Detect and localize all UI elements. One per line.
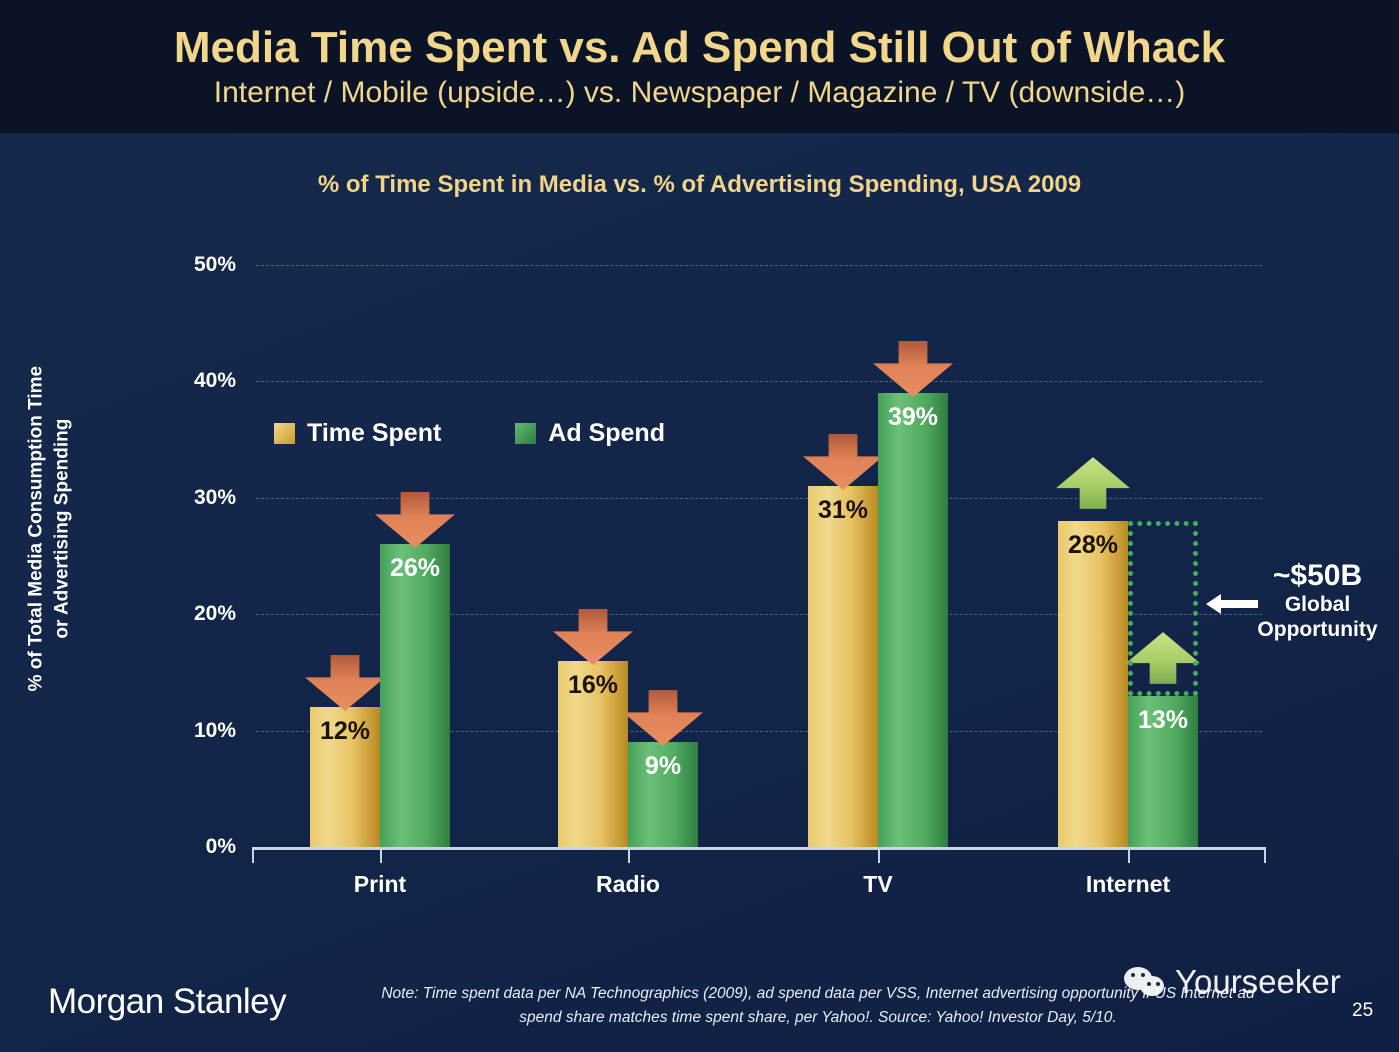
bar-value-label: 31% [808,496,878,525]
down-arrow-icon [305,655,385,711]
bar-value-label: 13% [1128,706,1198,735]
y-axis-tick-label: 0% [146,835,236,859]
x-axis-label-tv: TV [758,871,998,898]
gridline [256,265,1262,266]
brand-first: Morgan [48,982,164,1021]
y-axis-title-line2: or Advertising Spending [51,419,72,639]
y-axis-tick-label: 10% [146,719,236,743]
y-axis-title-line1: % of Total Media Consumption Time [25,366,46,691]
bar-radio-time-spent[interactable]: 16% [558,661,628,847]
x-axis-tick [252,847,254,863]
y-axis-title: % of Total Media Consumption Time or Adv… [23,294,74,764]
x-axis-tick [878,847,880,863]
up-arrow-icon [1056,457,1130,509]
bar-value-label: 16% [558,671,628,700]
down-arrow-icon [803,434,883,490]
bar-internet-time-spent[interactable]: 28% [1058,521,1128,847]
opportunity-line1: Global [1236,593,1399,618]
wechat-icon [1124,965,1168,999]
opportunity-amount: ~$50B [1236,558,1399,593]
y-axis-tick-label: 50% [146,253,236,277]
opportunity-line2: Opportunity [1236,618,1399,643]
opportunity-pointer-arrow [1206,591,1258,622]
brand-second: Stanley [173,982,286,1021]
bar-value-label: 12% [310,717,380,746]
x-axis-line [252,847,1264,850]
page-number: 25 [1352,1000,1373,1022]
bar-value-label: 39% [878,403,948,432]
watermark: Yourseeker [1124,963,1341,1001]
gridline [256,381,1262,382]
down-arrow-icon [375,492,455,548]
bar-tv-ad-spend[interactable]: 39% [878,393,948,847]
opportunity-annotation: ~$50B Global Opportunity [1236,558,1399,643]
slide-header: Media Time Spent vs. Ad Spend Still Out … [0,0,1399,133]
down-arrow-icon [873,341,953,397]
x-axis-tick [1264,847,1266,863]
watermark-text: Yourseeker [1175,963,1341,1001]
bar-tv-time-spent[interactable]: 31% [808,486,878,847]
chart-title: % of Time Spent in Media vs. % of Advert… [0,171,1399,199]
x-axis-tick [380,847,382,863]
bar-print-time-spent[interactable]: 12% [310,707,380,847]
bar-value-label: 9% [628,752,698,781]
morgan-stanley-logo: Morgan Stanley [48,982,286,1022]
x-axis-label-radio: Radio [508,871,748,898]
x-axis-label-internet: Internet [1008,871,1248,898]
slide-title: Media Time Spent vs. Ad Spend Still Out … [174,26,1225,70]
y-axis-tick-label: 30% [146,486,236,510]
y-axis-tick-label: 20% [146,602,236,626]
bar-value-label: 26% [380,554,450,583]
down-arrow-icon [553,609,633,665]
bar-internet-ad-spend[interactable]: 13% [1128,696,1198,847]
bar-print-ad-spend[interactable]: 26% [380,544,450,847]
x-axis-tick [628,847,630,863]
down-arrow-icon [623,690,703,746]
y-axis-tick-label: 40% [146,369,236,393]
bar-value-label: 28% [1058,531,1128,560]
opportunity-gap-box [1128,521,1198,696]
x-axis-tick [1128,847,1130,863]
plot-area: 0%10%20%30%40%50%12% 26% Print16% [256,265,1262,847]
slide-body: % of Time Spent in Media vs. % of Advert… [0,133,1399,1052]
bar-radio-ad-spend[interactable]: 9% [628,742,698,847]
slide: Media Time Spent vs. Ad Spend Still Out … [0,0,1399,1052]
footnote-line2: spend share matches time spent share, pe… [318,1006,1318,1030]
slide-subtitle: Internet / Mobile (upside…) vs. Newspape… [214,78,1186,108]
x-axis-label-print: Print [260,871,500,898]
